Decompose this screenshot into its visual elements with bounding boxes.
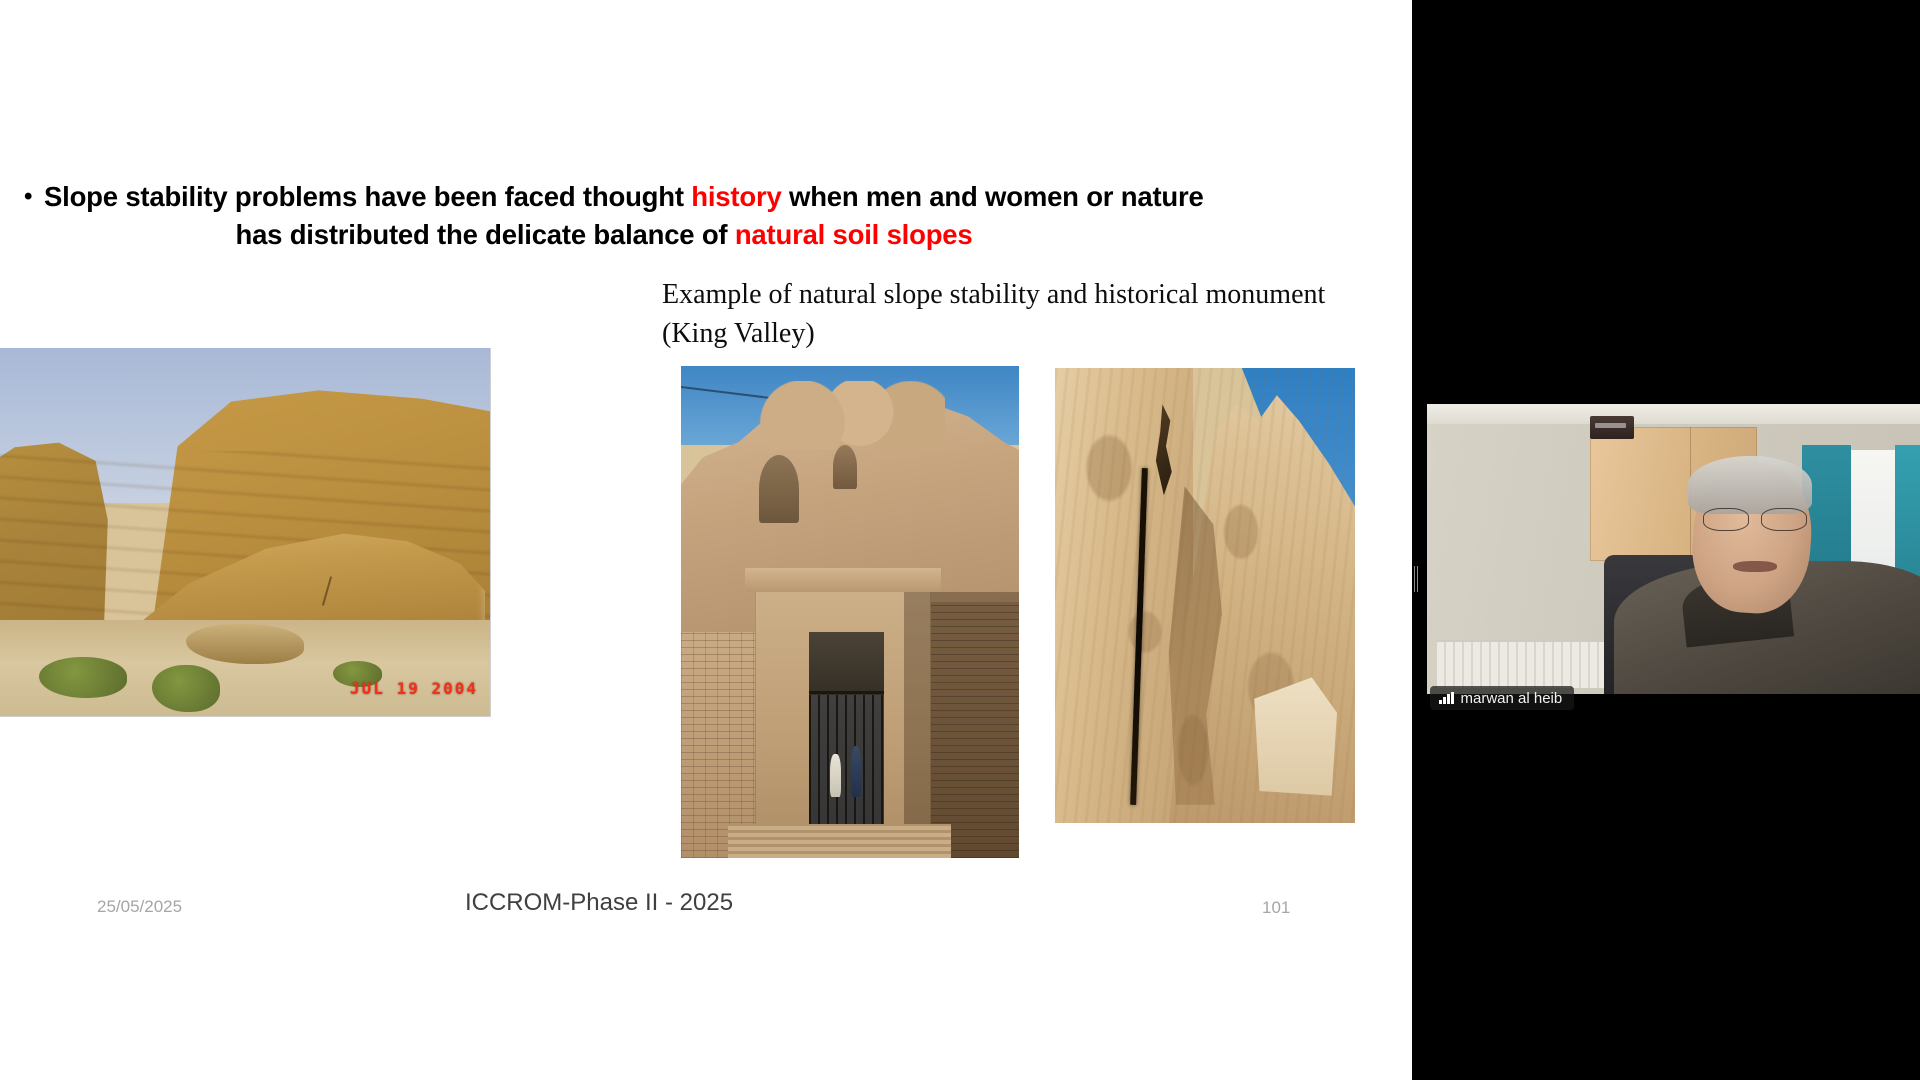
fissured-rock-photo: [1055, 368, 1355, 823]
block-crack: [322, 576, 332, 605]
slide-caption: Example of natural slope stability and h…: [662, 275, 1342, 353]
temple-lintel: [745, 568, 941, 593]
iron-gate: [809, 695, 883, 829]
shared-slide[interactable]: •Slope stability problems have been face…: [0, 0, 1412, 1080]
temple-doorway: [809, 632, 883, 829]
participant-video-tile[interactable]: [1427, 404, 1920, 694]
cliff-vegetation-a: [39, 657, 127, 697]
gate-rail: [809, 691, 883, 694]
bullet-line1-part1: Slope stability problems have been faced…: [44, 181, 691, 212]
bullet-line2-part1: has distributed the delicate balance of: [235, 219, 734, 250]
cliff-top-boulders: [755, 381, 944, 450]
bullet-line-1: •Slope stability problems have been face…: [14, 178, 1394, 216]
bullet-line1-part2: when men and women or nature: [782, 181, 1204, 212]
rock-niche-left: [759, 455, 800, 524]
cabinet-top-box: [1590, 416, 1634, 439]
drag-handle-icon[interactable]: [1412, 565, 1420, 593]
visitor-figure-light: [830, 754, 840, 797]
meeting-screen: •Slope stability problems have been face…: [0, 0, 1920, 1080]
box-label: [1595, 423, 1626, 428]
slide-page-number: 101: [1262, 898, 1290, 918]
room-radiator: [1437, 640, 1605, 688]
participant-glasses: [1703, 508, 1807, 528]
participant-hair: [1688, 456, 1811, 514]
slide-footer-title: ICCROM-Phase II - 2025: [0, 889, 1198, 917]
room-ceiling: [1427, 404, 1920, 424]
bullet-line-2: has distributed the delicate balance of …: [14, 216, 1394, 254]
temple-steps: [728, 824, 951, 858]
caption-line-1: Example of natural slope stability and h…: [662, 279, 1199, 310]
visitor-figure-dark: [851, 746, 861, 797]
cliff-vegetation-b: [152, 665, 221, 713]
participant-mouth: [1733, 561, 1777, 573]
temple-doorway-photo: [681, 366, 1019, 858]
temple-cast-shadow: [904, 592, 1019, 858]
bullet-marker-icon: •: [24, 178, 44, 216]
bullet-highlight-natural-soil-slopes: natural soil slopes: [735, 219, 973, 250]
signal-bars-icon: [1439, 692, 1454, 704]
participant-name: marwan al heib: [1461, 690, 1563, 707]
participant-name-badge: marwan al heib: [1430, 686, 1574, 710]
rock-niche-right: [833, 445, 857, 489]
desert-cliff-photo: JUL 19 2004: [0, 348, 491, 717]
slide-bullet-text: •Slope stability problems have been face…: [14, 178, 1394, 254]
photo-datestamp: JUL 19 2004: [350, 679, 478, 698]
bullet-highlight-history: history: [691, 181, 781, 212]
